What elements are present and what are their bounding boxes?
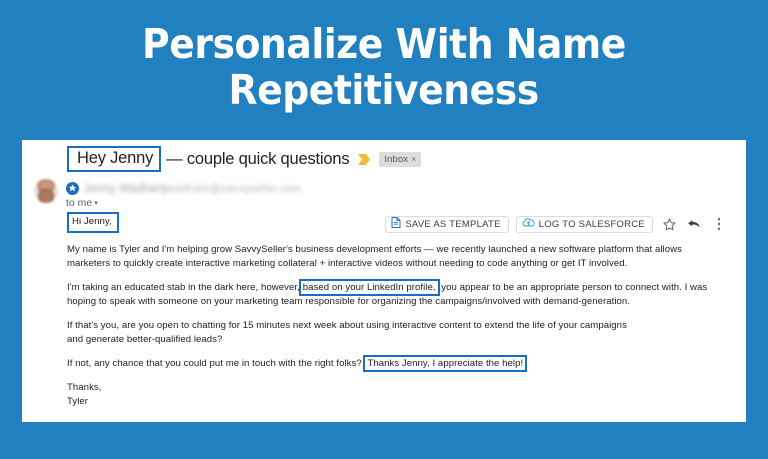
email-subject-row: Hey Jenny — couple quick questions Inbox… [22, 144, 421, 174]
label-chip-remove-icon[interactable]: × [411, 154, 416, 164]
paragraph-4-before-text: If not, any chance that you could put me… [67, 358, 362, 369]
banner-title-line-2: Repetitiveness [229, 67, 539, 113]
paragraph-3-line-2: and generate better-qualified leads? [67, 334, 222, 345]
important-marker-icon[interactable] [357, 153, 371, 166]
email-signature: Thanks, Tyler [67, 381, 727, 409]
linkedin-highlight-box: based on your LinkedIn profile, [299, 279, 440, 296]
greeting-row: Hi Jenny, [67, 212, 727, 243]
signature-name: Tyler [67, 396, 88, 407]
recipient-expander[interactable]: to me▾ [66, 197, 98, 209]
subject-remainder-text: — couple quick questions [166, 150, 349, 169]
sign-off-text: Thanks, [67, 382, 101, 393]
thanks-highlight-box: Thanks Jenny, I appreciate the help! [363, 355, 527, 372]
email-sender-row: Jenny Wadham jwadham@savvyseller.com to … [34, 178, 734, 212]
paragraph-2-before-text: I'm taking an educated stab in the dark … [67, 282, 300, 293]
subject-highlight-text: Hey Jenny [77, 149, 153, 167]
email-card: Hey Jenny — couple quick questions Inbox… [22, 140, 746, 422]
body-paragraph-2: I'm taking an educated stab in the dark … [67, 281, 722, 309]
email-body: Hi Jenny, My name is Tyler and I'm helpi… [67, 212, 727, 409]
body-paragraph-1: My name is Tyler and I'm helping grow Sa… [67, 243, 722, 271]
body-paragraph-3: If that's you, are you open to chatting … [67, 319, 722, 347]
paragraph-3-line-1: If that's you, are you open to chatting … [67, 320, 627, 331]
chevron-down-icon: ▾ [94, 200, 98, 207]
label-chip-text: Inbox [384, 154, 408, 165]
verified-badge-icon [66, 182, 79, 195]
subject-name-highlight-box: Hey Jenny [67, 146, 161, 172]
sender-name[interactable]: Jenny Wadham [84, 183, 166, 195]
greeting-highlight-box: Hi Jenny, [67, 212, 119, 233]
banner-heading: Personalize With Name Repetitiveness [0, 0, 768, 133]
banner-title-line-1: Personalize With Name [142, 21, 626, 67]
body-paragraph-4: If not, any chance that you could put me… [67, 357, 722, 371]
sender-email[interactable]: jwadham@savvyseller.com [164, 183, 301, 195]
greeting-text: Hi Jenny, [72, 216, 112, 227]
recipient-label: to me [66, 197, 92, 209]
avatar [34, 179, 58, 203]
label-chip-inbox[interactable]: Inbox× [379, 152, 420, 167]
